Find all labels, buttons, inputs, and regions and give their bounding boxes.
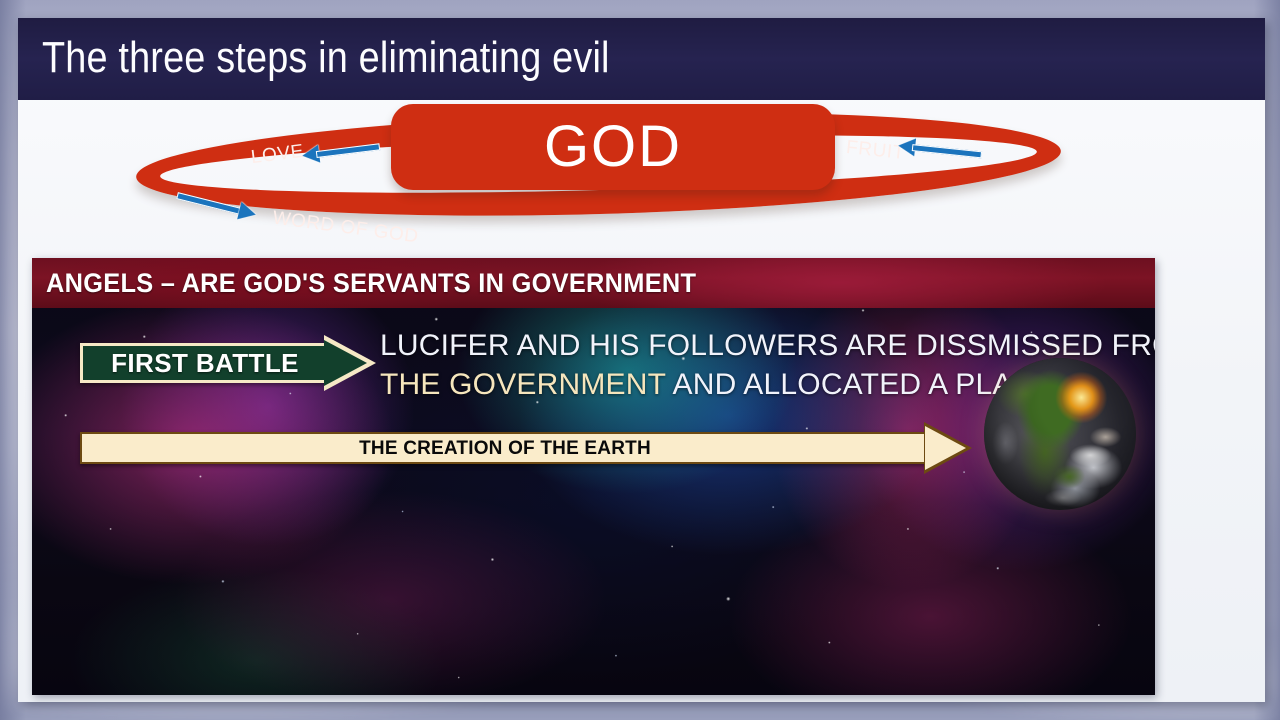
lucifer-paragraph: LUCIFER AND HIS FOLLOWERS ARE DISSMISSED… bbox=[380, 326, 1080, 404]
page-title-text: The three steps in eliminating evil bbox=[42, 36, 610, 80]
space-image-panel: ANGELS – ARE GOD'S SERVANTS IN GOVERNMEN… bbox=[32, 258, 1155, 695]
creation-arrow-tip-fill bbox=[925, 426, 966, 470]
arrow-head bbox=[237, 202, 258, 224]
first-battle-label: FIRST BATTLE bbox=[80, 343, 330, 383]
lucifer-highlight: THE GOVERNMENT bbox=[380, 368, 666, 401]
cycle-diagram: GOD LOVE WORD OF GOD FRUIT bbox=[18, 100, 1265, 258]
god-box[interactable]: GOD bbox=[391, 104, 835, 190]
angels-banner-title-text: ANGELS – ARE GOD'S SERVANTS IN GOVERNMEN… bbox=[46, 270, 696, 297]
earth-globe-image bbox=[984, 358, 1136, 510]
creation-of-earth-arrow[interactable]: THE CREATION OF THE EARTH bbox=[80, 428, 1000, 468]
starfield bbox=[32, 258, 1155, 695]
angels-banner-title: ANGELS – ARE GOD'S SERVANTS IN GOVERNMEN… bbox=[46, 270, 738, 297]
slide-title-bar: The three steps in eliminating evil bbox=[18, 18, 1265, 100]
first-battle-arrow[interactable]: FIRST BATTLE bbox=[80, 335, 380, 391]
first-battle-arrow-tip-fill bbox=[324, 340, 367, 386]
lucifer-line-2: THE GOVERNMENT AND ALLOCATED A PLACE bbox=[380, 365, 1080, 404]
page-title: The three steps in eliminating evil bbox=[42, 36, 702, 80]
angels-banner: ANGELS – ARE GOD'S SERVANTS IN GOVERNMEN… bbox=[32, 258, 1155, 308]
slide-stage: The three steps in eliminating evil GOD … bbox=[0, 0, 1280, 720]
lucifer-line-1: LUCIFER AND HIS FOLLOWERS ARE DISSMISSED… bbox=[380, 326, 1080, 365]
earth-terminator-shadow bbox=[984, 358, 1136, 510]
creation-arrow-label: THE CREATION OF THE EARTH bbox=[80, 432, 930, 464]
god-box-label: GOD bbox=[544, 118, 682, 176]
